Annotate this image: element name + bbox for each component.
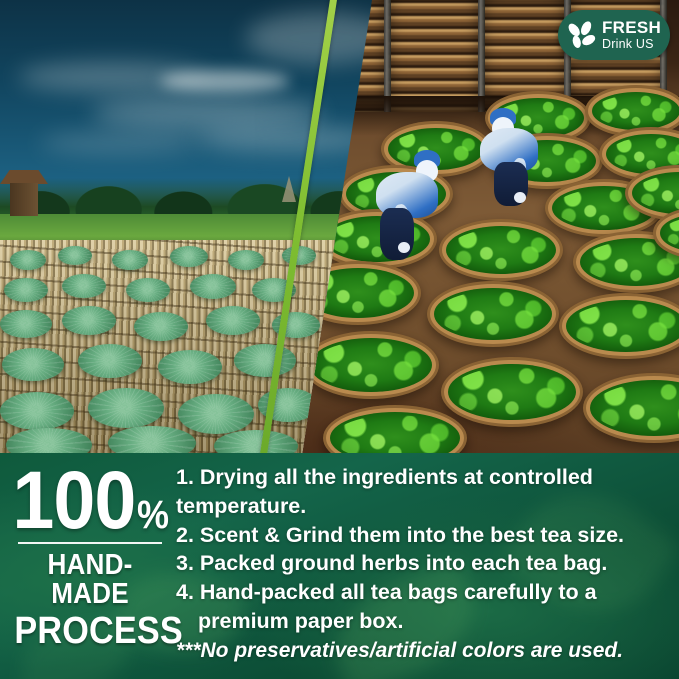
tea-basket	[590, 380, 679, 436]
hut	[4, 170, 44, 216]
percent-number: 100	[13, 467, 136, 534]
worker-figure	[472, 108, 552, 206]
process-step: 3. Packed ground herbs into each tea bag…	[176, 549, 676, 578]
badge-divider-rule	[18, 542, 162, 544]
process-step: 1. Drying all the ingredients at control…	[176, 463, 676, 521]
hand-made-badge: 100 % HAND-MADE PROCESS	[6, 467, 174, 652]
tea-basket	[592, 92, 679, 130]
logo-title: FRESH	[602, 19, 661, 36]
process-step-continuation: premium paper box.	[176, 607, 676, 636]
process-step: 4. Hand-packed all tea bags carefully to…	[176, 578, 676, 607]
pagoda	[282, 176, 296, 202]
process-steps-list: 1. Drying all the ingredients at control…	[176, 463, 676, 664]
no-preservatives-note: ***No preservatives/artificial colors ar…	[176, 637, 676, 664]
percent-display: 100 %	[6, 467, 174, 534]
worker-figure	[368, 150, 458, 262]
logo-subtitle: Drink US	[602, 38, 661, 51]
tea-basket	[310, 338, 432, 392]
brand-logo[interactable]: FRESH Drink US	[558, 10, 670, 60]
tea-basket	[606, 134, 679, 174]
tea-basket	[446, 226, 556, 274]
badge-line-2: PROCESS	[14, 612, 165, 652]
info-panel: 100 % HAND-MADE PROCESS 1. Drying all th…	[0, 453, 679, 679]
photo-composite: FRESH Drink US	[0, 0, 679, 455]
process-step: 2. Scent & Grind them into the best tea …	[176, 521, 676, 550]
percent-symbol: %	[137, 499, 169, 532]
tea-basket	[566, 300, 679, 352]
tea-basket	[434, 288, 552, 340]
badge-line-1: HAND-MADE	[14, 551, 165, 609]
tea-basket	[580, 238, 679, 286]
leaf-cluster-icon	[564, 18, 598, 52]
tea-basket	[448, 364, 576, 420]
product-infographic: FRESH Drink US 100 % HAND-MADE PROCESS	[0, 0, 679, 679]
tea-basket	[330, 412, 460, 455]
